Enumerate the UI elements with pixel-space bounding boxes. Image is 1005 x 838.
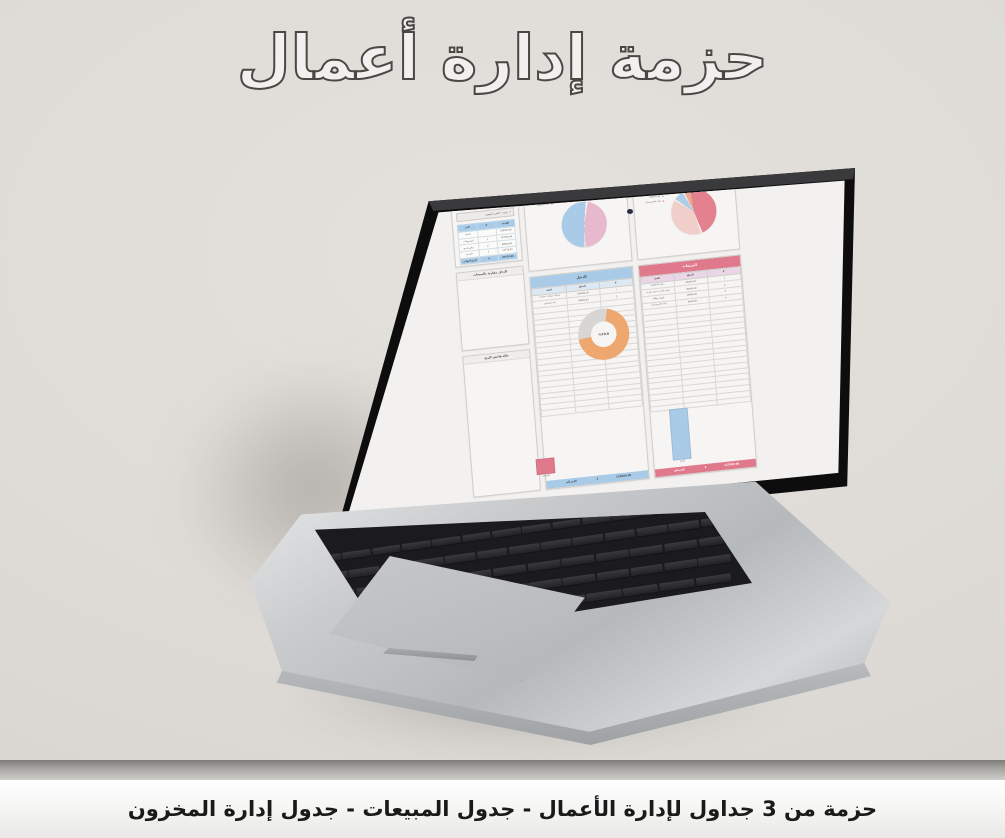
webcam-icon (627, 209, 633, 214)
poster-stage: حزمة إدارة أعمال المبيعات حسب الفئات (0, 0, 1005, 838)
card-profit-margin[interactable]: حالة هامش الربح %70.6 (462, 349, 541, 498)
dashboard: المبيعات حسب الفئات رواتب الموظفين (450, 169, 757, 494)
page-title: حزمة إدارة أعمال (0, 22, 1005, 93)
caption-text: حزمة من 3 جداول لإدارة الأعمال - جدول ال… (128, 797, 877, 821)
donut-chart-profit-margin[interactable]: %70.6 (462, 349, 541, 494)
caption-divider (0, 760, 1005, 780)
screen-content: المبيعات حسب الفئات رواتب الموظفين (335, 168, 855, 506)
right-column: التقرير الشهري ▾ يونيو — التقرير الشهري … (450, 192, 542, 498)
caption-bar: حزمة من 3 جداول لإدارة الأعمال - جدول ال… (0, 779, 1005, 838)
